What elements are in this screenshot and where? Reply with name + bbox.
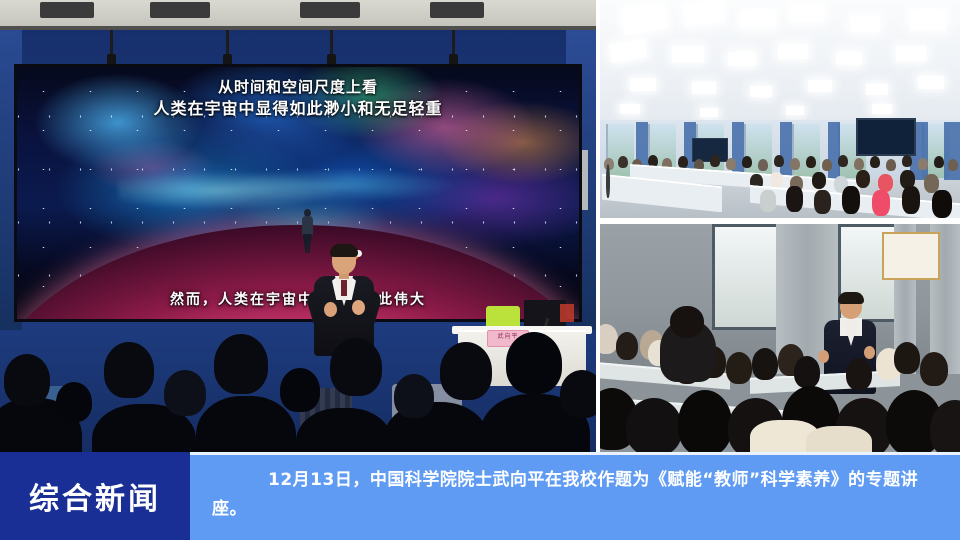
caption-bar: 综合新闻 12月13日，中国科学院院士武向平在我校作题为《赋能“教师”科学素养》… xyxy=(0,452,960,540)
audience-crowd xyxy=(600,302,960,452)
main-photo: 从时间和空间尺度上看 人类在宇宙中显得如此渺小和无足轻重 然而，人类在宇宙中却又… xyxy=(0,0,596,452)
ceiling-fixture xyxy=(150,2,210,18)
photo-top-right xyxy=(600,0,960,218)
slide-line-1: 从时间和空间尺度上看 xyxy=(17,77,579,99)
ceiling-fixture xyxy=(300,2,360,18)
category-badge: 综合新闻 xyxy=(0,452,190,540)
caption-panel: 12月13日，中国科学院院士武向平在我校作题为《赋能“教师”科学素养》的专题讲座… xyxy=(190,452,960,540)
audience-silhouettes xyxy=(0,332,596,452)
led-presentation-screen: 从时间和空间尺度上看 人类在宇宙中显得如此渺小和无足轻重 然而，人类在宇宙中却又… xyxy=(14,64,582,322)
screen-hanger xyxy=(452,30,455,64)
caption-top-rule xyxy=(190,452,960,455)
screen-hanger xyxy=(226,30,229,64)
ceiling-fixture xyxy=(430,2,484,18)
news-photo-collage: 从时间和空间尺度上看 人类在宇宙中显得如此渺小和无足轻重 然而，人类在宇宙中却又… xyxy=(0,0,960,540)
slide-text-top: 从时间和空间尺度上看 人类在宇宙中显得如此渺小和无足轻重 xyxy=(17,77,579,121)
wall-poster xyxy=(882,232,940,280)
slide-line-2: 人类在宇宙中显得如此渺小和无足轻重 xyxy=(17,99,579,121)
red-flag xyxy=(560,304,574,322)
ceiling-fixture xyxy=(40,2,94,18)
caption-text: 12月13日，中国科学院院士武向平在我校作题为《赋能“教师”科学素养》的专题讲座… xyxy=(190,452,960,524)
screen-hanger xyxy=(330,30,333,64)
photo-bottom-right xyxy=(600,224,960,452)
category-label: 综合新闻 xyxy=(29,474,161,518)
screen-hanger xyxy=(110,30,113,64)
audience-crowd xyxy=(600,150,960,218)
